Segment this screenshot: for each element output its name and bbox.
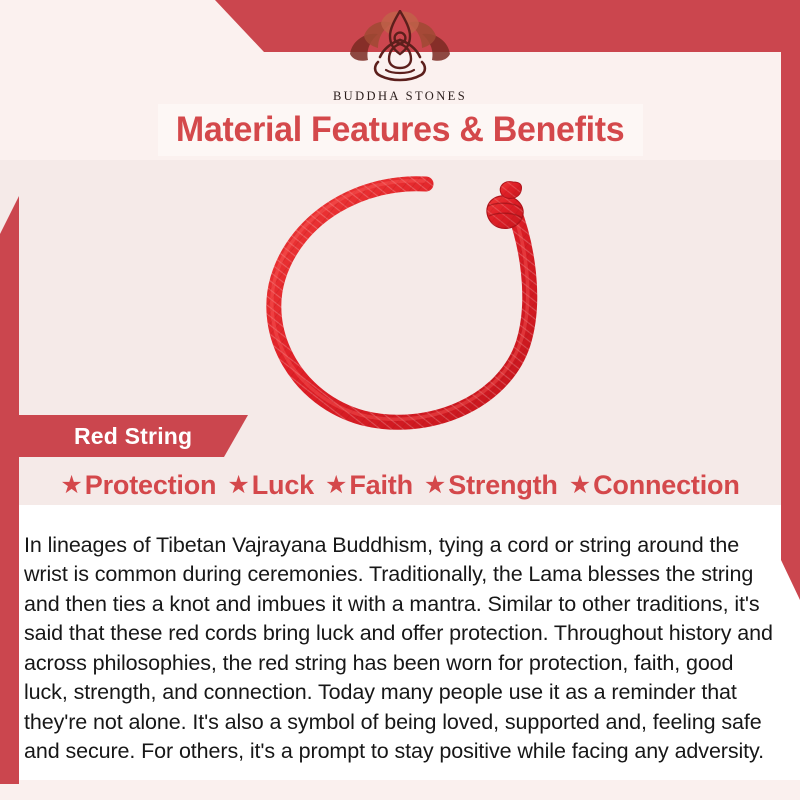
benefit-item-strength: ★ Strength (424, 470, 558, 501)
decorative-left-red-bar (0, 196, 19, 784)
star-icon: ★ (569, 473, 591, 498)
benefit-label: Connection (593, 470, 740, 501)
product-name-label: Red String (18, 423, 192, 450)
star-icon: ★ (60, 473, 82, 498)
title-plate: Material Features & Benefits (158, 104, 643, 156)
description-paragraph: In lineages of Tibetan Vajrayana Buddhis… (24, 531, 776, 767)
brand-logo: BUDDHA STONES (0, 10, 800, 104)
benefit-label: Protection (85, 470, 217, 501)
benefit-item-connection: ★ Connection (569, 470, 740, 501)
page-title: Material Features & Benefits (176, 110, 624, 150)
benefit-label: Luck (252, 470, 314, 501)
product-name-ribbon: Red String (18, 415, 248, 457)
benefit-item-faith: ★ Faith (325, 470, 413, 501)
star-icon: ★ (325, 473, 347, 498)
product-image-red-string-bracelet (245, 168, 575, 434)
benefits-list: ★ Protection ★ Luck ★ Faith ★ Strength ★… (20, 464, 780, 506)
lotus-meditation-icon (338, 10, 462, 87)
star-icon: ★ (424, 473, 446, 498)
benefit-label: Strength (448, 470, 557, 501)
brand-name: BUDDHA STONES (333, 89, 467, 104)
benefit-label: Faith (349, 470, 413, 501)
star-icon: ★ (227, 473, 249, 498)
benefit-item-protection: ★ Protection (60, 470, 216, 501)
background-footer-band (0, 780, 800, 800)
benefit-item-luck: ★ Luck (227, 470, 314, 501)
poster-canvas: BUDDHA STONES Material Features & Benefi… (0, 0, 800, 800)
